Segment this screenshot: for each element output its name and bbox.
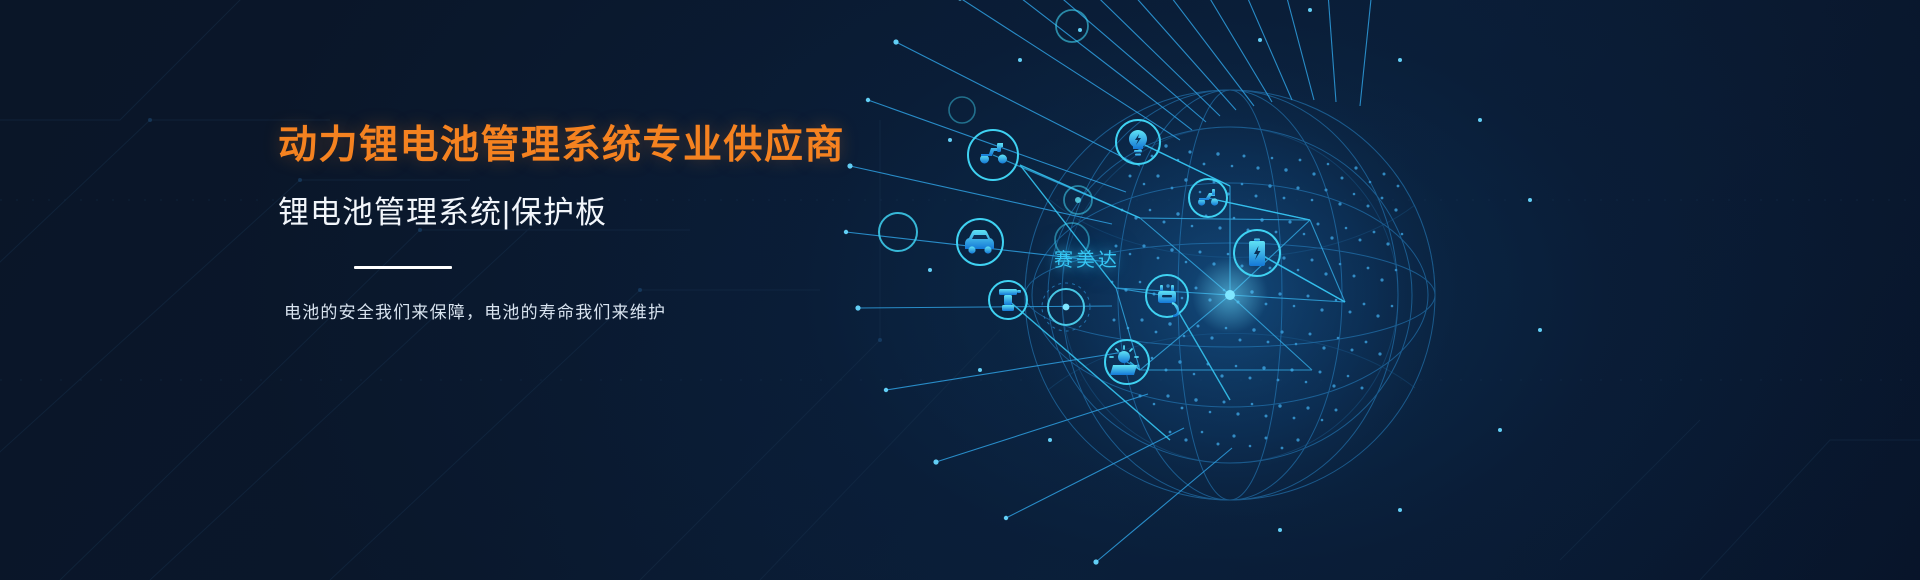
solar-lamp-icon (1110, 346, 1138, 375)
node-empty-e[interactable] (1055, 223, 1089, 257)
battery-icon (1249, 239, 1265, 267)
power-drill-icon (999, 289, 1021, 311)
globe-wireframe (1025, 90, 1435, 500)
banner-subhead: 锂电池管理系统|保护板 (278, 195, 998, 231)
node-plug[interactable] (1146, 275, 1188, 317)
node-empty-g[interactable] (949, 97, 975, 123)
node-empty-c[interactable] (1064, 186, 1092, 214)
node-ebike[interactable] (1189, 179, 1227, 217)
power-plug-icon (1158, 285, 1178, 316)
banner-text-block: 动力锂电池管理系统专业供应商 锂电池管理系统|保护板 电池的安全我们来保障，电池… (278, 124, 998, 323)
globe-dot-matrix (1111, 144, 1404, 449)
globe-center-brand: 赛美达 (1007, 245, 1167, 272)
banner-headline: 动力锂电池管理系统专业供应商 (278, 124, 998, 169)
node-lamp[interactable] (1105, 340, 1149, 384)
node-leader-lines (1008, 145, 1345, 440)
lightbulb-icon (1129, 130, 1147, 156)
divider-rule (354, 266, 452, 269)
node-empty-f[interactable] (1042, 283, 1090, 331)
banner-tagline: 电池的安全我们来保障，电池的寿命我们来维护 (284, 298, 998, 323)
node-battery[interactable] (1234, 230, 1280, 276)
hero-banner: 赛美达 动力锂电池管理系统专业供应商 锂电池管理系统|保护板 电池的安全我们来保… (0, 0, 1920, 580)
node-empty-b[interactable] (1056, 10, 1088, 42)
node-bulb[interactable] (1116, 120, 1160, 164)
globe-connection-lines (993, 142, 1345, 370)
ebike-icon (1198, 189, 1218, 206)
